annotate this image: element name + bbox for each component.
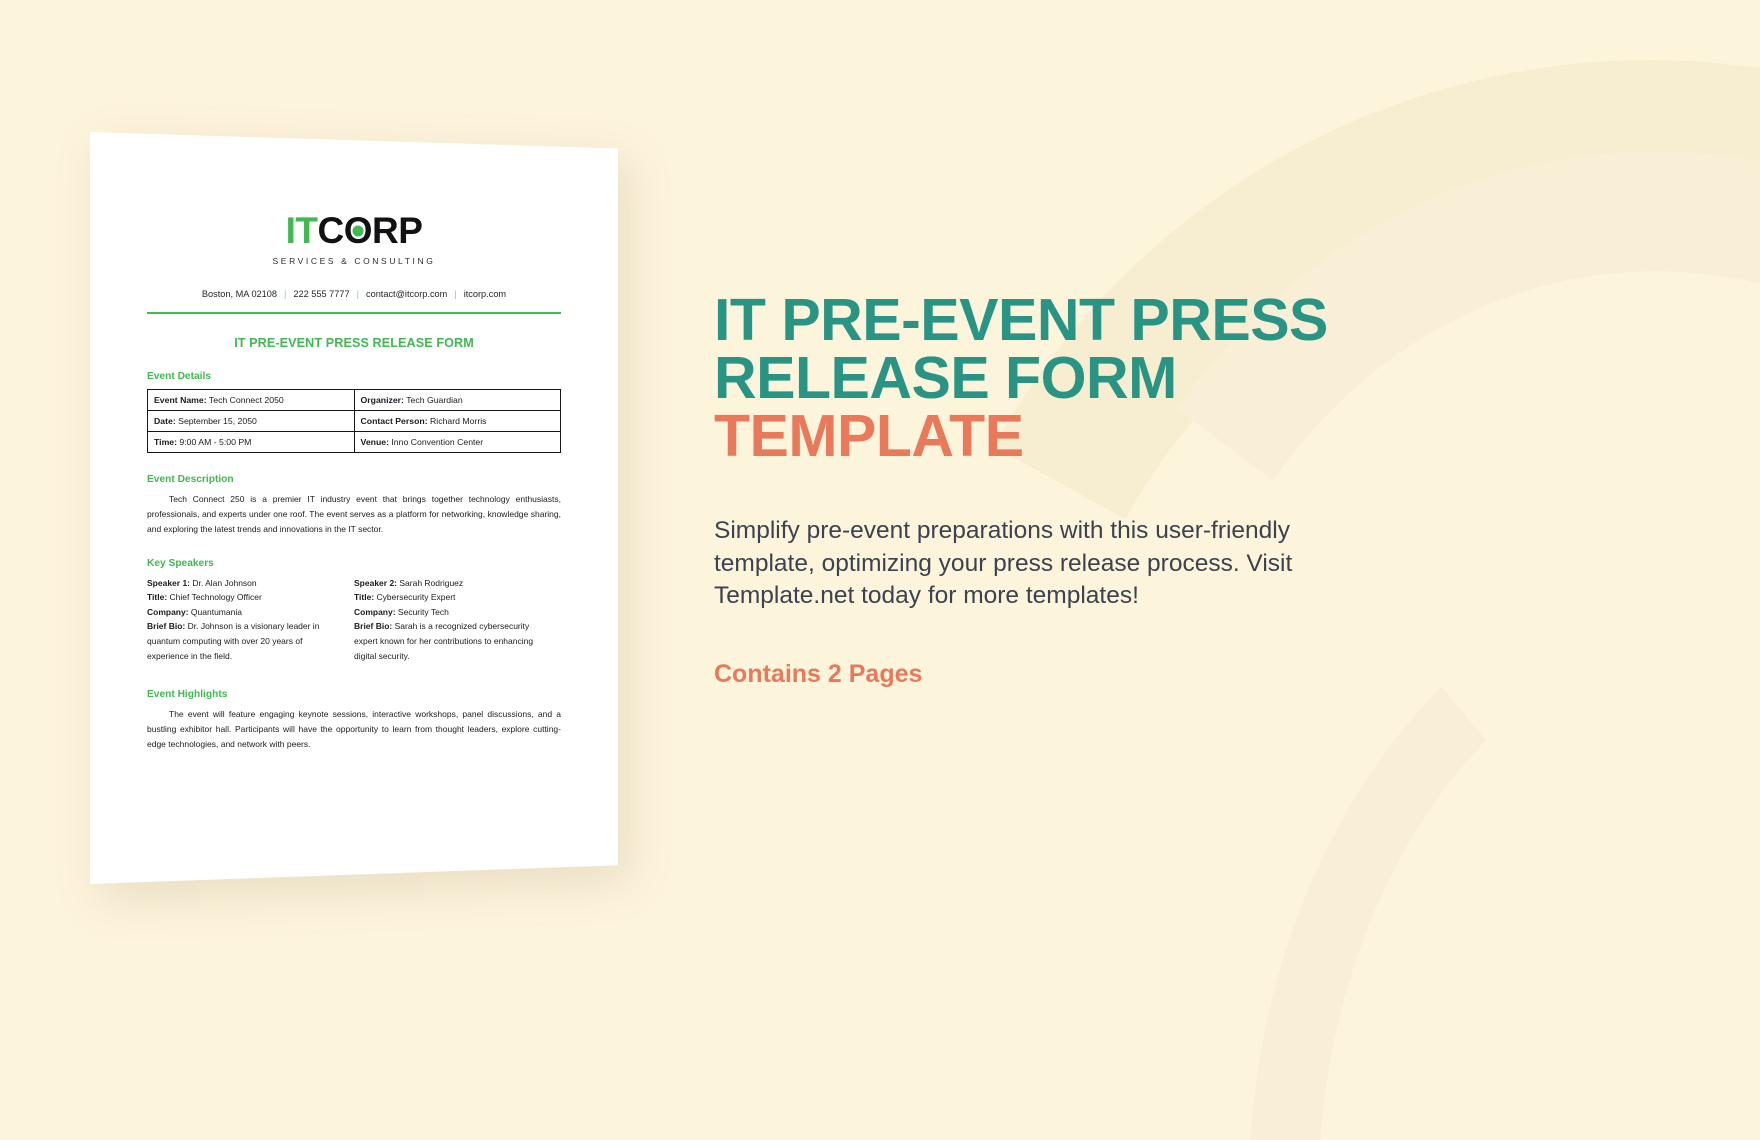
contact-separator-3: | [454, 289, 456, 299]
speaker-2-bio: Brief Bio: Sarah is a recognized cyberse… [354, 619, 547, 663]
label-contact-person: Contact Person: [361, 416, 428, 426]
logo-c-text: C [317, 210, 343, 251]
document-preview[interactable]: ITCORP SERVICES & CONSULTING Boston, MA … [90, 132, 618, 884]
label-date: Date: [154, 416, 176, 426]
table-cell-contact-person: Contact Person: Richard Morris [354, 411, 561, 432]
speaker-2-company-label: Company: [354, 607, 396, 617]
contact-website: itcorp.com [464, 289, 506, 299]
section-heading-event-details: Event Details [147, 371, 561, 382]
table-cell-date: Date: September 15, 2050 [148, 411, 355, 432]
value-contact-person: Richard Morris [428, 416, 487, 426]
document-page: ITCORP SERVICES & CONSULTING Boston, MA … [90, 132, 618, 884]
company-logo: ITCORP SERVICES & CONSULTING [147, 212, 561, 266]
logo-tagline: SERVICES & CONSULTING [147, 256, 561, 266]
contact-phone: 222 555 7777 [293, 289, 349, 299]
value-event-name: Tech Connect 2050 [207, 395, 284, 405]
speaker-2-title-label: Title: [354, 592, 374, 602]
label-venue: Venue: [361, 437, 389, 447]
speaker-1-bio: Brief Bio: Dr. Johnson is a visionary le… [147, 619, 340, 663]
label-time: Time: [154, 437, 177, 447]
page-count-badge: Contains 2 Pages [714, 660, 1414, 689]
header-divider [147, 312, 561, 314]
table-cell-organizer: Organizer: Tech Guardian [354, 390, 561, 411]
value-date: September 15, 2050 [176, 416, 257, 426]
section-heading-event-description: Event Description [147, 474, 561, 485]
speaker-2-name: Speaker 2: Sarah Rodriguez [354, 576, 547, 591]
speaker-2-name-label: Speaker 2: [354, 578, 397, 588]
headline-line-2: RELEASE FORM [714, 345, 1177, 411]
headline-line-1: IT PRE-EVENT PRESS [714, 287, 1328, 353]
logo-it-text: IT [286, 210, 318, 251]
value-organizer: Tech Guardian [404, 395, 463, 405]
speaker-2-company-value: Security Tech [396, 607, 449, 617]
contact-separator-2: | [357, 289, 359, 299]
speaker-2-title: Title: Cybersecurity Expert [354, 590, 547, 605]
table-cell-time: Time: 9:00 AM - 5:00 PM [148, 432, 355, 453]
value-venue: Inno Convention Center [389, 437, 483, 447]
contact-line: Boston, MA 02108|222 555 7777|contact@it… [147, 289, 561, 299]
section-heading-event-highlights: Event Highlights [147, 689, 561, 700]
label-organizer: Organizer: [361, 395, 404, 405]
contact-separator-1: | [284, 289, 286, 299]
speaker-2-company: Company: Security Tech [354, 605, 547, 620]
speaker-1-name-label: Speaker 1: [147, 578, 190, 588]
speaker-2-bio-label: Brief Bio: [354, 621, 392, 631]
event-highlights-text: The event will feature engaging keynote … [147, 707, 561, 752]
logo-o-wrap: O [344, 212, 372, 249]
table-cell-event-name: Event Name: Tech Connect 2050 [148, 390, 355, 411]
table-row: Date: September 15, 2050 Contact Person:… [148, 411, 561, 432]
document-title: IT PRE-EVENT PRESS RELEASE FORM [147, 336, 561, 350]
table-cell-venue: Venue: Inno Convention Center [354, 432, 561, 453]
speaker-2-title-value: Cybersecurity Expert [374, 592, 455, 602]
speaker-1-title-value: Chief Technology Officer [167, 592, 262, 602]
speakers-columns: Speaker 1: Dr. Alan Johnson Title: Chief… [147, 576, 561, 664]
promo-panel: IT PRE-EVENT PRESS RELEASE FORM TEMPLATE… [714, 292, 1414, 689]
event-details-table: Event Name: Tech Connect 2050 Organizer:… [147, 389, 561, 453]
speaker-1-title: Title: Chief Technology Officer [147, 590, 340, 605]
contact-address: Boston, MA 02108 [202, 289, 277, 299]
headline-line-3: TEMPLATE [714, 408, 1414, 466]
speaker-1-name-value: Dr. Alan Johnson [190, 578, 257, 588]
logo-rp-text: RP [372, 210, 422, 251]
promo-headline: IT PRE-EVENT PRESS RELEASE FORM TEMPLATE [714, 292, 1414, 465]
speaker-2-name-value: Sarah Rodriguez [397, 578, 463, 588]
promo-canvas: ITCORP SERVICES & CONSULTING Boston, MA … [0, 0, 1760, 1140]
logo-wordmark: ITCORP [147, 212, 561, 249]
speaker-column-2: Speaker 2: Sarah Rodriguez Title: Cybers… [354, 576, 561, 664]
table-row: Event Name: Tech Connect 2050 Organizer:… [148, 390, 561, 411]
event-description-text: Tech Connect 250 is a premier IT industr… [147, 492, 561, 537]
table-row: Time: 9:00 AM - 5:00 PM Venue: Inno Conv… [148, 432, 561, 453]
label-event-name: Event Name: [154, 395, 207, 405]
green-dot-icon [352, 226, 363, 237]
speaker-1-company-value: Quantumania [189, 607, 242, 617]
speaker-1-company-label: Company: [147, 607, 189, 617]
section-heading-key-speakers: Key Speakers [147, 558, 561, 569]
contact-email: contact@itcorp.com [366, 289, 447, 299]
speaker-1-bio-label: Brief Bio: [147, 621, 185, 631]
speaker-1-title-label: Title: [147, 592, 167, 602]
speaker-1-name: Speaker 1: Dr. Alan Johnson [147, 576, 340, 591]
promo-blurb: Simplify pre-event preparations with thi… [714, 515, 1364, 612]
speaker-column-1: Speaker 1: Dr. Alan Johnson Title: Chief… [147, 576, 354, 664]
value-time: 9:00 AM - 5:00 PM [177, 437, 251, 447]
speaker-1-company: Company: Quantumania [147, 605, 340, 620]
